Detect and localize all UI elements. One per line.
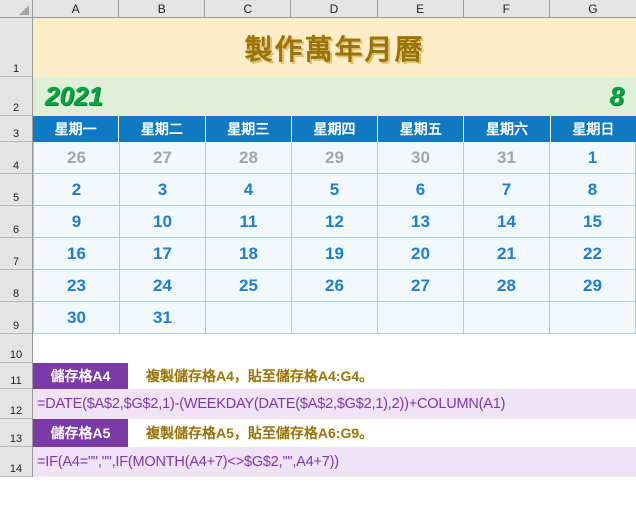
day-cell[interactable]: 20 <box>378 238 464 270</box>
row-header-7[interactable]: 7 <box>0 238 32 270</box>
day-cell[interactable] <box>378 302 464 334</box>
weekday-header-4[interactable]: 星期四 <box>292 116 378 142</box>
column-header-a[interactable]: A <box>33 0 119 17</box>
column-header-b[interactable]: B <box>119 0 205 17</box>
day-cell[interactable]: 6 <box>378 174 464 206</box>
row-header-1[interactable]: 1 <box>0 18 32 77</box>
weekday-header-1[interactable]: 星期一 <box>33 116 119 142</box>
row-header-14[interactable]: 14 <box>0 447 32 477</box>
day-cell[interactable]: 18 <box>206 238 292 270</box>
row-header-8[interactable]: 8 <box>0 270 32 302</box>
note-text-a5: 複製儲存格A5，貼至儲存格A6:G9。 <box>128 423 373 443</box>
column-header-f[interactable]: F <box>464 0 550 17</box>
day-cell[interactable]: 2 <box>33 174 120 206</box>
day-cell[interactable]: 21 <box>464 238 550 270</box>
column-header-bar: ABCDEFG <box>0 0 636 18</box>
calendar-row-9: 3031 <box>33 302 636 334</box>
cell-grid: 製作萬年月曆 2021 8 星期一星期二星期三星期四星期五星期六星期日 2627… <box>33 18 636 521</box>
day-cell[interactable]: 25 <box>206 270 292 302</box>
row-header-4[interactable]: 4 <box>0 142 32 174</box>
select-all-button[interactable] <box>0 0 33 17</box>
day-cell[interactable]: 30 <box>378 142 464 174</box>
day-cell[interactable]: 27 <box>120 142 206 174</box>
weekday-header-2[interactable]: 星期二 <box>119 116 205 142</box>
day-cell[interactable]: 14 <box>464 206 550 238</box>
day-cell[interactable]: 19 <box>292 238 378 270</box>
row-header-2[interactable]: 2 <box>0 77 32 116</box>
column-header-d[interactable]: D <box>291 0 377 17</box>
title-cell[interactable]: 製作萬年月曆 <box>33 18 636 77</box>
day-cell[interactable]: 3 <box>120 174 206 206</box>
day-cell[interactable]: 9 <box>33 206 120 238</box>
day-cell[interactable]: 10 <box>120 206 206 238</box>
row-header-11[interactable]: 11 <box>0 363 32 389</box>
weekday-header-3[interactable]: 星期三 <box>206 116 292 142</box>
row-header-6[interactable]: 6 <box>0 206 32 238</box>
day-cell[interactable]: 26 <box>292 270 378 302</box>
day-cell[interactable] <box>292 302 378 334</box>
day-cell[interactable]: 17 <box>120 238 206 270</box>
day-cell[interactable]: 1 <box>550 142 636 174</box>
row-header-12[interactable]: 12 <box>0 389 32 419</box>
column-header-g[interactable]: G <box>550 0 636 17</box>
row-header-bar: 1234567891011121314 <box>0 18 33 477</box>
day-cell[interactable] <box>550 302 636 334</box>
calendar-row-5: 2345678 <box>33 174 636 206</box>
cell-ref-badge-a5: 儲存格A5 <box>33 419 128 447</box>
year-cell[interactable]: 2021 <box>45 81 103 112</box>
note-row-13: 儲存格A5 複製儲存格A5，貼至儲存格A6:G9。 <box>33 419 636 447</box>
note-row-11: 儲存格A4 複製儲存格A4，貼至儲存格A4:G4。 <box>33 363 636 389</box>
formula-row-12[interactable]: =DATE($A$2,$G$2,1)-(WEEKDAY(DATE($A$2,$G… <box>33 389 636 419</box>
spreadsheet-sheet: ABCDEFG 1234567891011121314 製作萬年月曆 2021 … <box>0 0 636 521</box>
row-header-13[interactable]: 13 <box>0 419 32 447</box>
day-cell[interactable]: 16 <box>33 238 120 270</box>
day-cell[interactable] <box>206 302 292 334</box>
calendar-body: 2627282930311234567891011121314151617181… <box>33 142 636 334</box>
calendar-row-6: 9101112131415 <box>33 206 636 238</box>
day-cell[interactable]: 28 <box>206 142 292 174</box>
day-cell[interactable]: 29 <box>550 270 636 302</box>
day-cell[interactable]: 5 <box>292 174 378 206</box>
day-cell[interactable]: 31 <box>464 142 550 174</box>
day-cell[interactable]: 24 <box>120 270 206 302</box>
row-header-5[interactable]: 5 <box>0 174 32 206</box>
weekday-header-7[interactable]: 星期日 <box>551 116 636 142</box>
formula-row-14[interactable]: =IF(A4="","",IF(MONTH(A4+7)<>$G$2,"",A4+… <box>33 447 636 477</box>
day-cell[interactable]: 30 <box>33 302 120 334</box>
day-cell[interactable]: 11 <box>206 206 292 238</box>
day-cell[interactable] <box>464 302 550 334</box>
day-cell[interactable]: 28 <box>464 270 550 302</box>
weekday-header-6[interactable]: 星期六 <box>464 116 550 142</box>
calendar-row-7: 16171819202122 <box>33 238 636 270</box>
day-cell[interactable]: 4 <box>206 174 292 206</box>
calendar-row-4: 2627282930311 <box>33 142 636 174</box>
day-cell[interactable]: 29 <box>292 142 378 174</box>
day-cell[interactable]: 13 <box>378 206 464 238</box>
day-cell[interactable]: 31 <box>120 302 206 334</box>
column-header-e[interactable]: E <box>378 0 464 17</box>
row-header-10[interactable]: 10 <box>0 334 32 363</box>
day-cell[interactable]: 26 <box>33 142 120 174</box>
year-month-row: 2021 8 <box>33 77 636 116</box>
select-all-triangle-icon <box>19 5 29 15</box>
day-cell[interactable]: 23 <box>33 270 120 302</box>
weekday-header-row: 星期一星期二星期三星期四星期五星期六星期日 <box>33 116 636 142</box>
blank-row-10[interactable] <box>33 334 636 363</box>
day-cell[interactable]: 7 <box>464 174 550 206</box>
day-cell[interactable]: 8 <box>550 174 636 206</box>
calendar-row-8: 23242526272829 <box>33 270 636 302</box>
day-cell[interactable]: 15 <box>550 206 636 238</box>
day-cell[interactable]: 12 <box>292 206 378 238</box>
row-header-3[interactable]: 3 <box>0 116 32 142</box>
column-header-c[interactable]: C <box>205 0 291 17</box>
weekday-header-5[interactable]: 星期五 <box>378 116 464 142</box>
note-text-a4: 複製儲存格A4，貼至儲存格A4:G4。 <box>128 366 373 386</box>
day-cell[interactable]: 27 <box>378 270 464 302</box>
month-cell[interactable]: 8 <box>610 81 624 112</box>
cell-ref-badge-a4: 儲存格A4 <box>33 363 128 389</box>
day-cell[interactable]: 22 <box>550 238 636 270</box>
row-header-9[interactable]: 9 <box>0 302 32 334</box>
